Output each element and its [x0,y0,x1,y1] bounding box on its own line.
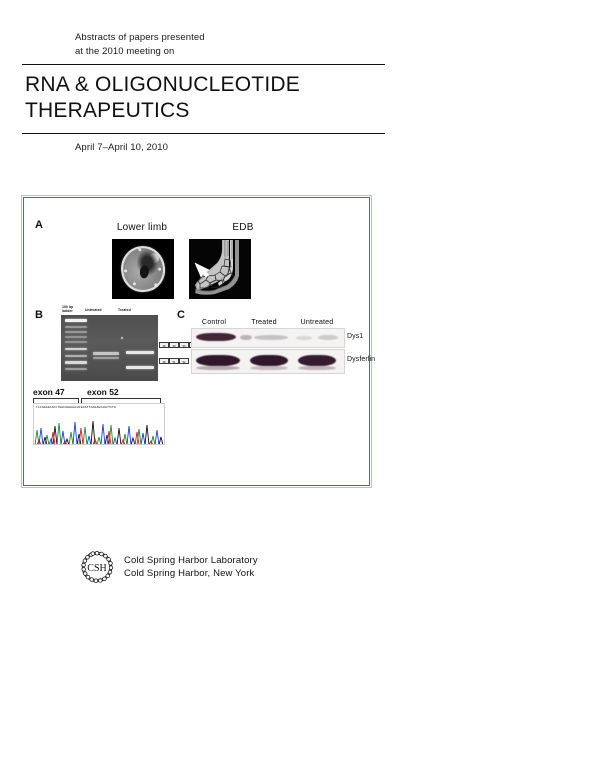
sanger-chromatogram: TCCAGAGCACCTGGCAGGAACACGCATTCAGAGCAGCTCT… [33,403,165,445]
exon-cell: 50 [179,342,189,348]
gel-header-untreated: Untreated [85,308,111,312]
marker-dot [154,283,157,286]
western-column-control: Control [191,317,237,326]
publisher-location: Cold Spring Harbor, New York [124,567,258,580]
exon-cell: 51 [169,358,179,364]
panel-a-caption-lower-limb: Lower limb [87,222,197,233]
cover-figure: A Lower limb EDB [21,195,372,488]
meeting-dates: April 7–April 10, 2010 [75,142,600,153]
abstracts-subtitle: Abstracts of papers presented at the 201… [75,0,600,59]
panel-c-letter: C [177,309,185,321]
blot-band [296,336,312,340]
page-title: RNA & OLIGONUCLEOTIDE THERAPEUTICS [25,65,395,128]
exon-cell: 52 [179,358,189,364]
foot-mri-illustration [189,239,251,299]
gel-band [65,361,87,364]
western-row-label-dys1: Dys1 [347,333,363,340]
gel-band [65,331,87,333]
marker-dot [158,267,161,270]
mri-edb-image [189,239,251,299]
gel-band [126,366,154,369]
marker-dot [132,282,135,285]
exon-cell: 48 [159,342,169,348]
western-row-label-dysferlin: Dysferlin [347,356,375,363]
figure-inner: A Lower limb EDB [25,199,368,484]
publisher-name: Cold Spring Harbor Laboratory [124,554,258,567]
exon-label-52: exon 52 [87,387,119,397]
western-blot-dysferlin [191,349,345,374]
rt-pcr-gel-image [61,315,158,381]
blot-band [318,335,338,340]
gel-band [126,351,154,354]
gel-band [65,326,87,328]
gel-band [93,352,119,355]
panel-a-caption-edb: EDB [203,222,283,233]
publisher-footer: CSH Cold Spring Harbor Laboratory Cold S… [78,548,258,586]
marker-dot [124,269,127,272]
chromatogram-peaks [34,411,164,445]
gel-band [65,319,87,322]
blot-band [196,355,240,366]
csh-logo-icon: CSH [78,548,116,586]
blot-band [240,335,252,340]
gel-header-treated: Treated [118,308,140,312]
gel-band [65,368,87,370]
western-column-treated: Treated [243,317,285,326]
gel-band [65,341,87,343]
exon-cell: 48 [159,358,169,364]
subtitle-line-2: at the 2010 meeting on [75,45,600,59]
blot-band [196,366,240,370]
blot-band [254,335,288,340]
panel-a-letter: A [35,219,43,231]
page-header: Abstracts of papers presented at the 201… [0,0,600,153]
gel-band [93,357,119,359]
western-blot-dys1 [191,328,345,348]
marker-dot [138,248,141,251]
mri-lower-limb-image [112,239,174,299]
thigh-cross-section [118,243,168,295]
blot-band [298,355,336,366]
publisher-address: Cold Spring Harbor Laboratory Cold Sprin… [124,554,258,580]
exon-label-47: exon 47 [33,387,65,397]
gel-band [65,348,87,350]
blot-band [250,366,288,370]
gel-band [65,355,87,357]
gel-speck [121,337,123,339]
blot-band [196,333,236,341]
blot-band [298,366,336,370]
exon-map-skipped: 48 51 52 [159,358,189,364]
blot-band [250,355,288,366]
gel-band [65,336,87,338]
exon-cell: 49 [169,342,179,348]
western-column-untreated: Untreated [293,317,341,326]
csh-logo-text: CSH [87,563,106,574]
panel-b-letter: B [35,309,43,321]
rule-below-title [22,133,385,134]
subtitle-line-1: Abstracts of papers presented [75,31,600,45]
gel-header-ladder: 100 bp ladder [62,305,82,313]
